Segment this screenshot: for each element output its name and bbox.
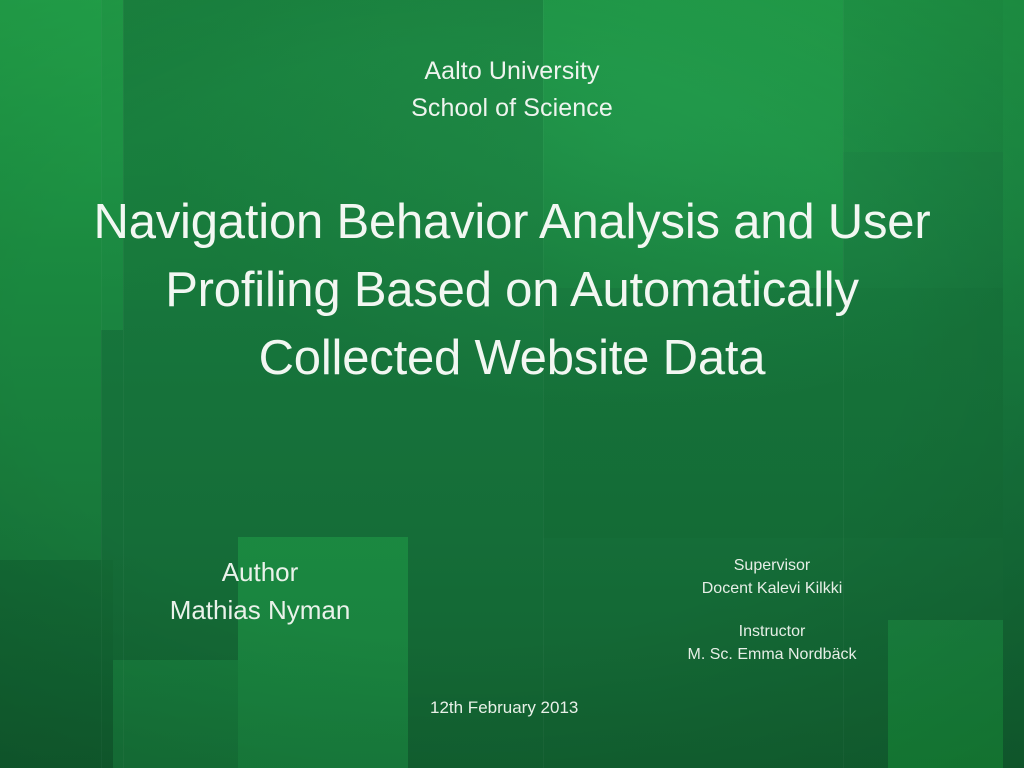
instructor-role-label: Instructor (640, 620, 904, 643)
author-name: Mathias Nyman (112, 591, 408, 629)
instructor-name: M. Sc. Emma Nordbäck (640, 643, 904, 666)
slide-title: Navigation Behavior Analysis and User Pr… (62, 188, 962, 392)
slide-content: Aalto University School of Science Navig… (0, 0, 1024, 768)
organization-university: Aalto University (0, 53, 1024, 90)
presentation-date: 12th February 2013 (430, 696, 578, 720)
supervisor-role-label: Supervisor (640, 554, 904, 577)
author-role-label: Author (112, 553, 408, 591)
instructor-group: Instructor M. Sc. Emma Nordbäck (640, 620, 904, 666)
author-block: Author Mathias Nyman (112, 553, 408, 629)
organization-heading: Aalto University School of Science (0, 53, 1024, 127)
advisors-block: Supervisor Docent Kalevi Kilkki Instruct… (640, 554, 904, 666)
title-slide: Aalto University School of Science Navig… (0, 0, 1024, 768)
supervisor-name: Docent Kalevi Kilkki (640, 577, 904, 600)
organization-school: School of Science (0, 90, 1024, 127)
supervisor-group: Supervisor Docent Kalevi Kilkki (640, 554, 904, 600)
